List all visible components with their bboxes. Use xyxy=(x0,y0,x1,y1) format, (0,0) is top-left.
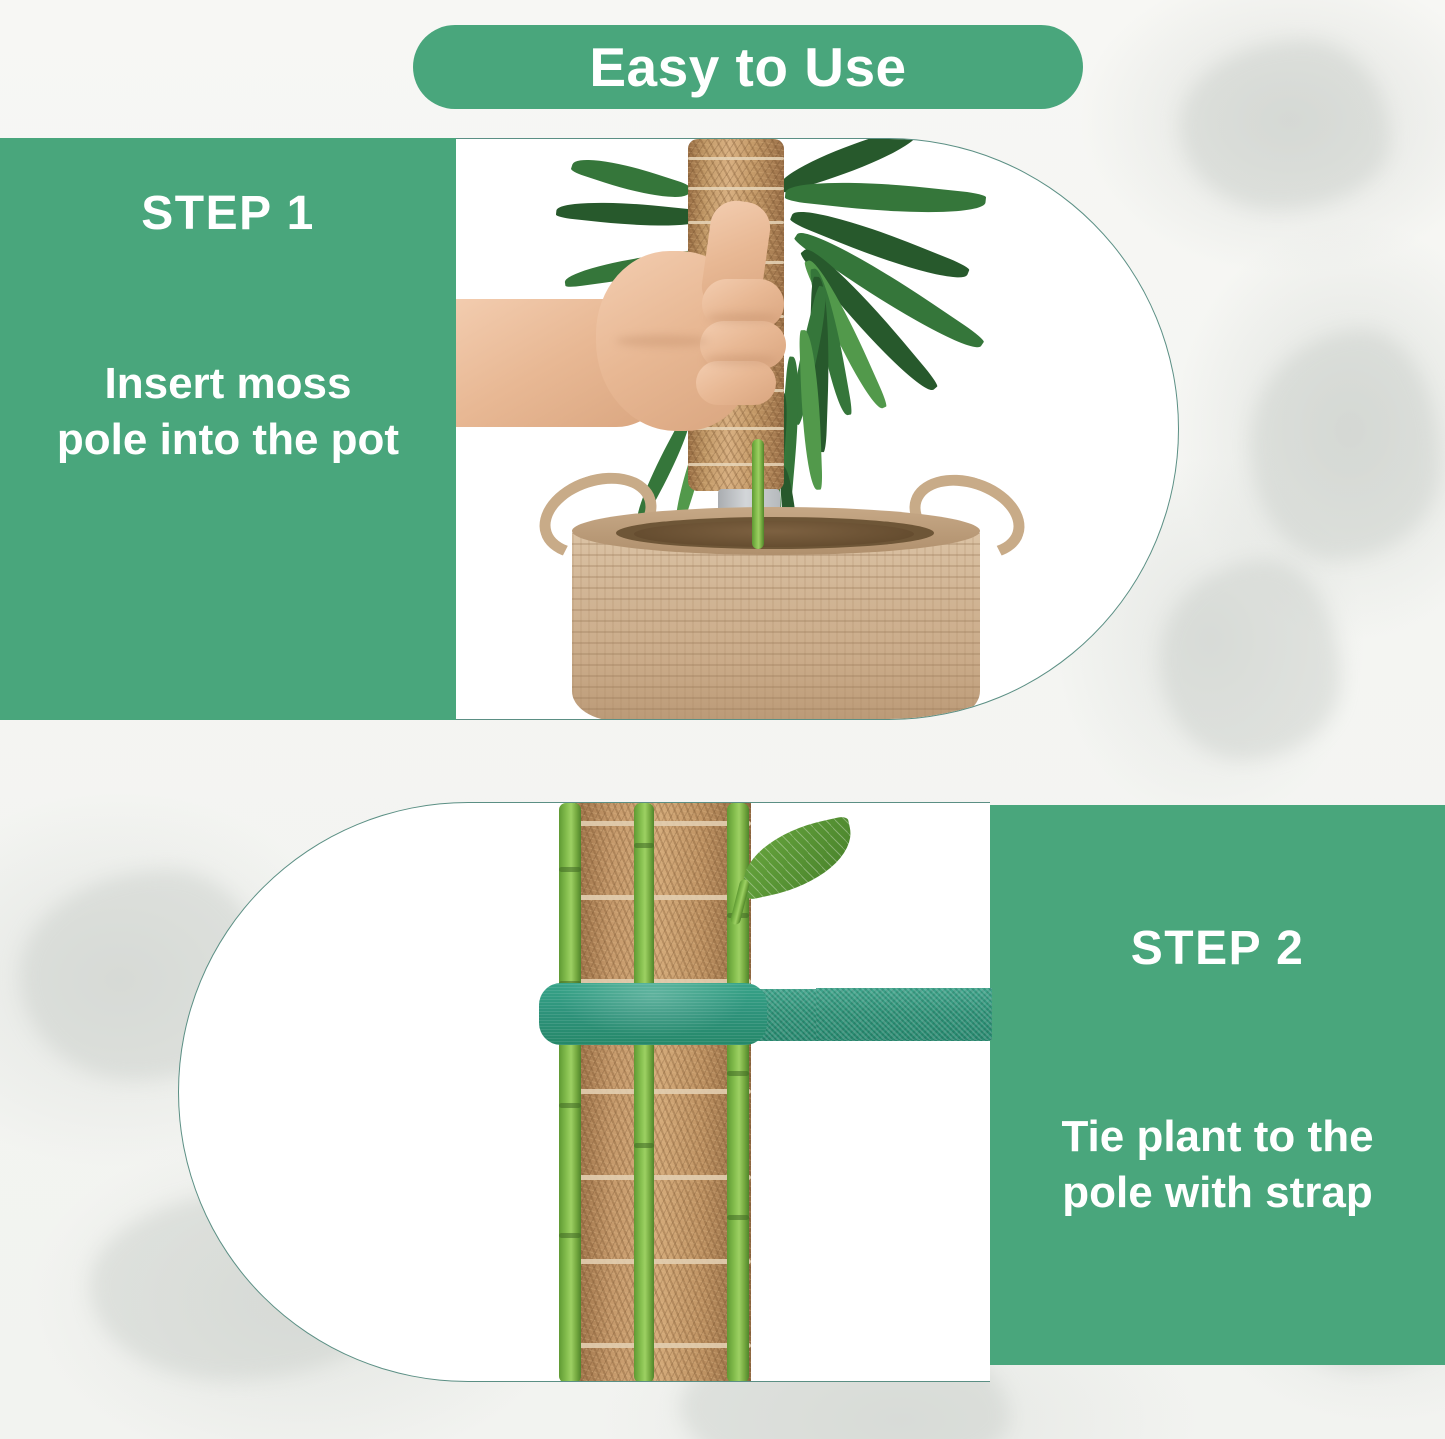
step-1-illustration xyxy=(456,139,1178,719)
step-2-description-line-2: pole with strap xyxy=(1012,1165,1423,1221)
header-pill: Easy to Use xyxy=(413,25,1083,109)
step-1-label: STEP 1 xyxy=(22,190,434,238)
step-2-text-panel: STEP 2 Tie plant to the pole with strap xyxy=(990,805,1445,1365)
soil xyxy=(634,521,914,547)
plant-stem xyxy=(634,803,654,1382)
step-2-label: STEP 2 xyxy=(1012,925,1423,973)
moss-pole-twine xyxy=(575,1089,751,1094)
moss-pole-twine xyxy=(688,187,784,190)
stem-node xyxy=(559,1103,581,1108)
step-1-description-line-1: Insert moss xyxy=(22,356,434,412)
step-2-photo xyxy=(178,802,990,1382)
plant-stem xyxy=(559,803,581,1382)
step-1-photo xyxy=(456,138,1179,720)
plant-leaf xyxy=(734,816,860,901)
finger xyxy=(696,361,776,405)
stem-node xyxy=(634,1143,654,1148)
velcro-strap-loop-texture xyxy=(539,983,767,1045)
moss-pole-twine xyxy=(575,895,751,900)
knuckle-shadow xyxy=(704,355,776,365)
step-2-illustration xyxy=(179,803,990,1381)
velcro-strap-tail-extension xyxy=(816,988,992,1040)
plant-leaf xyxy=(570,149,692,209)
infographic-page: Easy to Use STEP 1 Insert moss pole into… xyxy=(0,0,1445,1439)
leaf-veins xyxy=(734,816,860,901)
step-2-description-line-1: Tie plant to the xyxy=(1012,1109,1423,1165)
step-1-section: STEP 1 Insert moss pole into the pot xyxy=(0,138,1445,720)
stem-node xyxy=(559,1233,581,1238)
plant-stem xyxy=(752,439,764,549)
stem-node xyxy=(727,1215,749,1220)
knuckle-shadow xyxy=(706,313,778,323)
moss-pole-twine xyxy=(688,463,784,466)
velcro-strap-loop xyxy=(539,983,767,1045)
plant-leaf xyxy=(556,195,707,233)
moss-pole-twine xyxy=(575,821,751,826)
knuckle-shadow xyxy=(616,335,708,347)
moss-pole-twine xyxy=(575,1343,751,1348)
moss-pole-twine xyxy=(575,1259,751,1264)
stem-node xyxy=(634,843,654,848)
moss-pole-twine xyxy=(688,157,784,160)
page-title: Easy to Use xyxy=(589,40,906,95)
step-2-section: STEP 2 Tie plant to the pole with strap xyxy=(0,802,1445,1382)
stem-node xyxy=(559,867,581,872)
moss-pole-twine xyxy=(575,1175,751,1180)
step-1-description-line-2: pole into the pot xyxy=(22,412,434,468)
step-2-description: Tie plant to the pole with strap xyxy=(1012,1109,1423,1222)
step-1-description: Insert moss pole into the pot xyxy=(22,356,434,469)
stem-node xyxy=(727,1071,749,1076)
step-1-text-panel: STEP 1 Insert moss pole into the pot xyxy=(0,138,456,720)
velcro-strap-weave-texture xyxy=(816,988,992,1040)
